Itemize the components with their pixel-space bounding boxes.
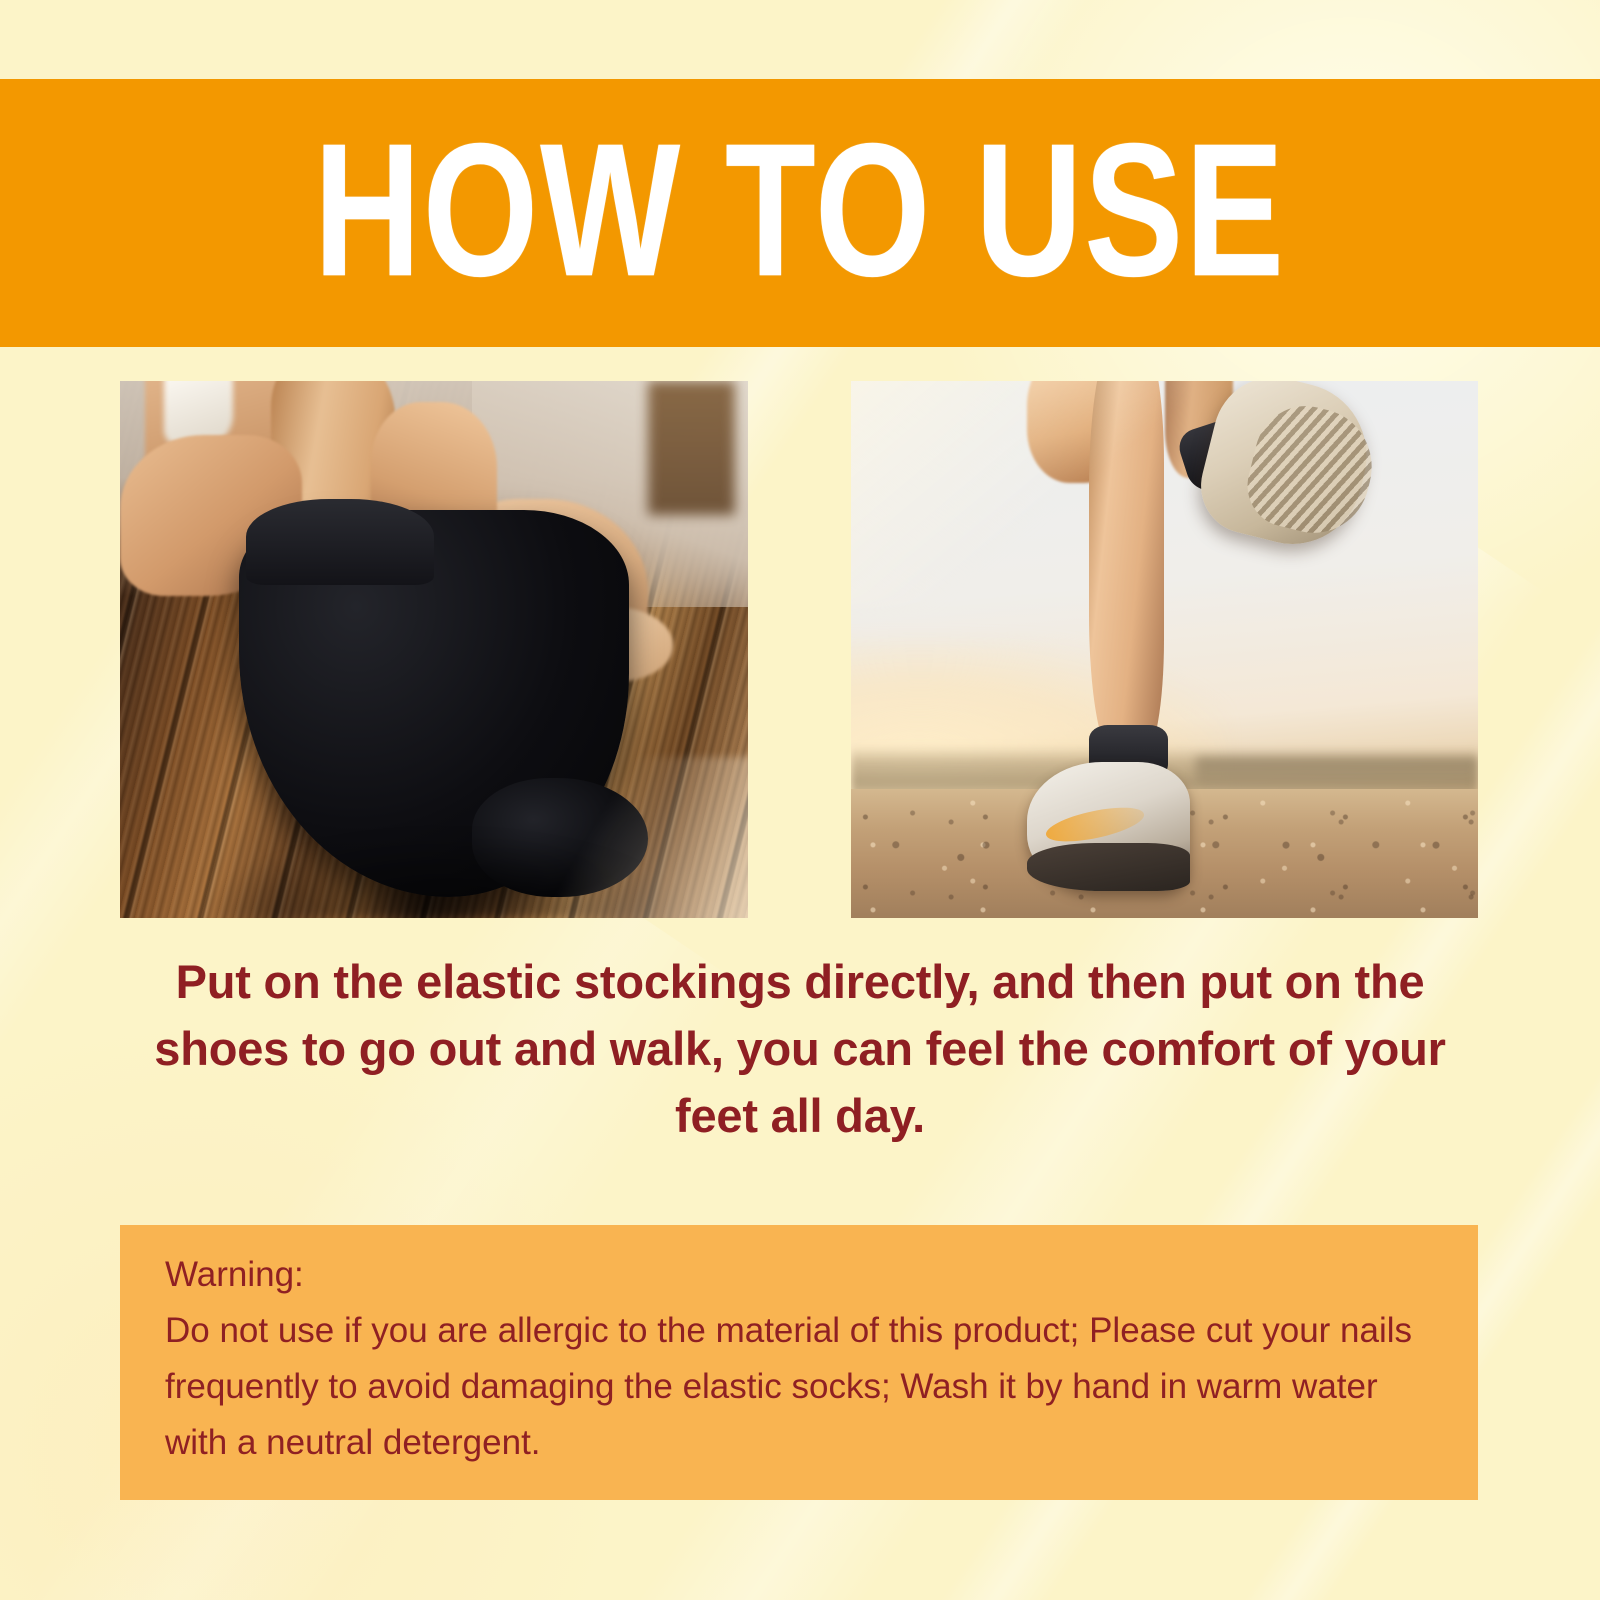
infographic-page: HOW TO USE	[0, 0, 1600, 1600]
sun-flare	[851, 381, 1190, 607]
floor-highlight	[534, 757, 748, 918]
header-banner: HOW TO USE	[0, 79, 1600, 347]
front-shoe-sole	[1027, 843, 1190, 891]
background-furniture	[648, 381, 736, 515]
page-title: HOW TO USE	[314, 116, 1286, 306]
photo-row	[120, 381, 1478, 918]
warning-text: Do not use if you are allergic to the ma…	[165, 1303, 1420, 1471]
instruction-paragraph: Put on the elastic stockings directly, a…	[130, 948, 1470, 1149]
warning-label: Warning:	[165, 1247, 1434, 1303]
photo-putting-on-black-sock	[120, 381, 748, 918]
black-sock-cuff	[246, 499, 434, 585]
photo-runner-on-dirt-path	[851, 381, 1478, 918]
warning-content: Warning: Do not use if you are allergic …	[120, 1225, 1478, 1471]
warning-box: Warning: Do not use if you are allergic …	[120, 1225, 1478, 1500]
